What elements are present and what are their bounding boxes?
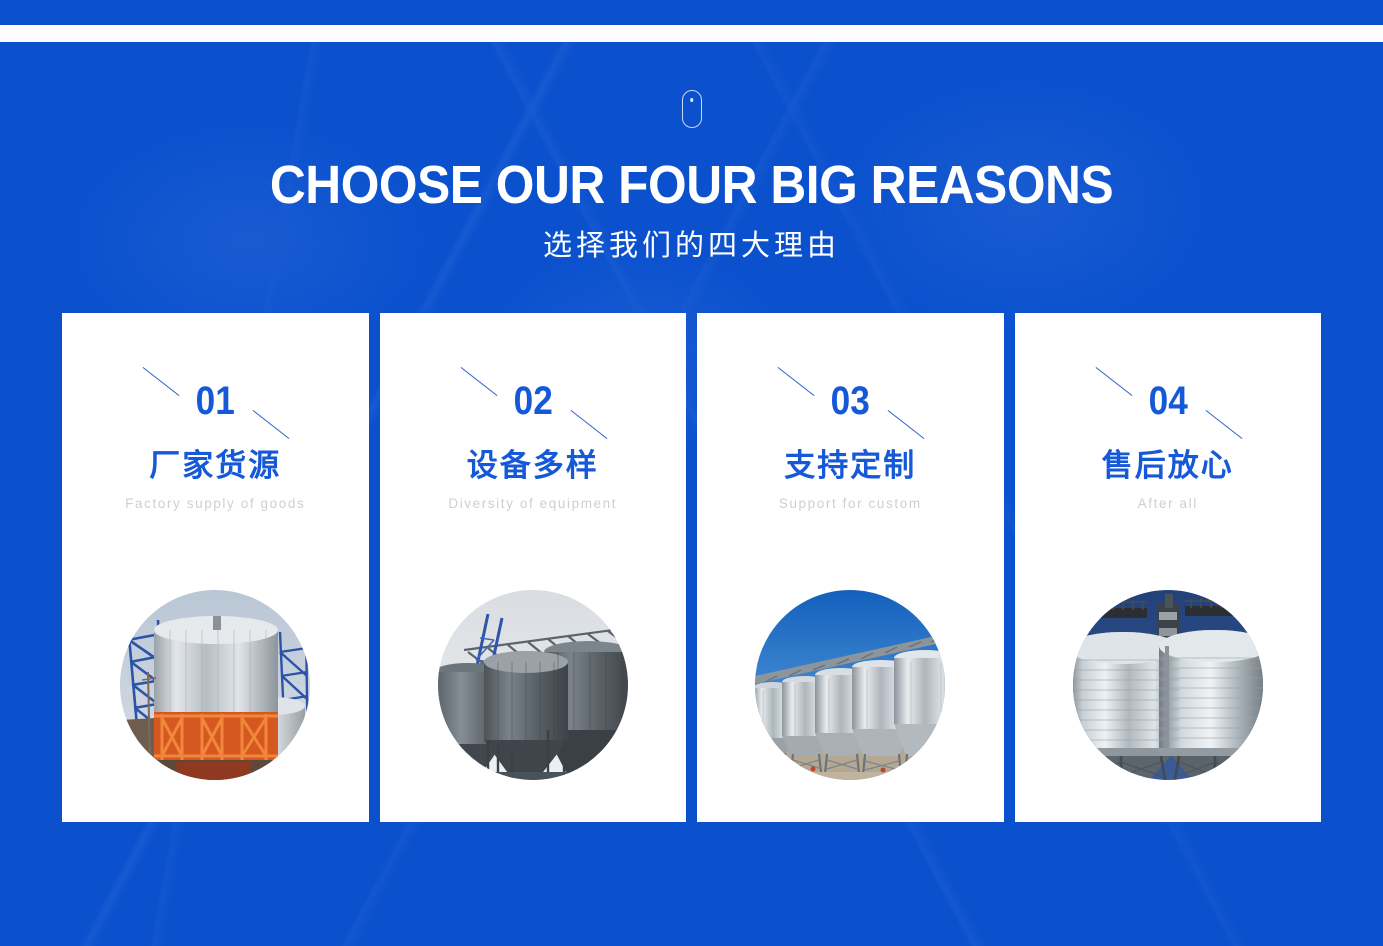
reason-card-01[interactable]: 01 厂家货源 Factory supply of goods xyxy=(62,313,369,822)
card-number-block-03: 03 xyxy=(770,375,930,427)
top-accent-bar xyxy=(0,0,1383,25)
reason-card-02[interactable]: 02 设备多样 Diversity of equipment xyxy=(380,313,687,822)
card-number: 01 xyxy=(196,381,235,421)
card-number: 04 xyxy=(1148,381,1187,421)
diagonal-line-right-icon xyxy=(570,410,607,439)
diagonal-line-left-icon xyxy=(460,367,497,396)
page-title-english: CHOOSE OUR FOUR BIG REASONS xyxy=(55,158,1327,212)
card-title-chinese: 厂家货源 xyxy=(149,449,281,483)
card-title-english: Support for custom xyxy=(779,495,922,513)
card-title-english: Factory supply of goods xyxy=(125,495,305,513)
card-title-chinese: 支持定制 xyxy=(784,449,916,483)
reason-cards-row: 01 厂家货源 Factory supply of goods xyxy=(62,313,1321,822)
reason-card-04[interactable]: 04 售后放心 After all xyxy=(1015,313,1322,822)
card-photo-01 xyxy=(120,590,310,780)
diagonal-line-right-icon xyxy=(1205,410,1242,439)
diagonal-line-right-icon xyxy=(253,410,290,439)
diagonal-line-left-icon xyxy=(143,367,180,396)
diagonal-line-left-icon xyxy=(1095,367,1132,396)
card-photo-02 xyxy=(438,590,628,780)
card-number-block-04: 04 xyxy=(1088,375,1248,427)
card-photo-03 xyxy=(755,590,945,780)
card-number-block-02: 02 xyxy=(453,375,613,427)
card-title-chinese: 售后放心 xyxy=(1102,449,1234,483)
card-number: 02 xyxy=(513,381,552,421)
card-title-english: After all xyxy=(1138,495,1198,513)
diagonal-line-right-icon xyxy=(888,410,925,439)
card-photo-04 xyxy=(1073,590,1263,780)
card-title-chinese: 设备多样 xyxy=(467,449,599,483)
card-number: 03 xyxy=(831,381,870,421)
mouse-scroll-icon xyxy=(682,90,702,128)
top-white-divider xyxy=(0,25,1383,42)
promo-page: CHOOSE OUR FOUR BIG REASONS 选择我们的四大理由 01… xyxy=(0,0,1383,946)
card-title-english: Diversity of equipment xyxy=(448,495,617,513)
card-number-block-01: 01 xyxy=(135,375,295,427)
mouse-wheel-dot xyxy=(690,98,694,102)
diagonal-line-left-icon xyxy=(778,367,815,396)
reason-card-03[interactable]: 03 支持定制 Support for custom xyxy=(697,313,1004,822)
page-title-chinese: 选择我们的四大理由 xyxy=(0,222,1383,264)
